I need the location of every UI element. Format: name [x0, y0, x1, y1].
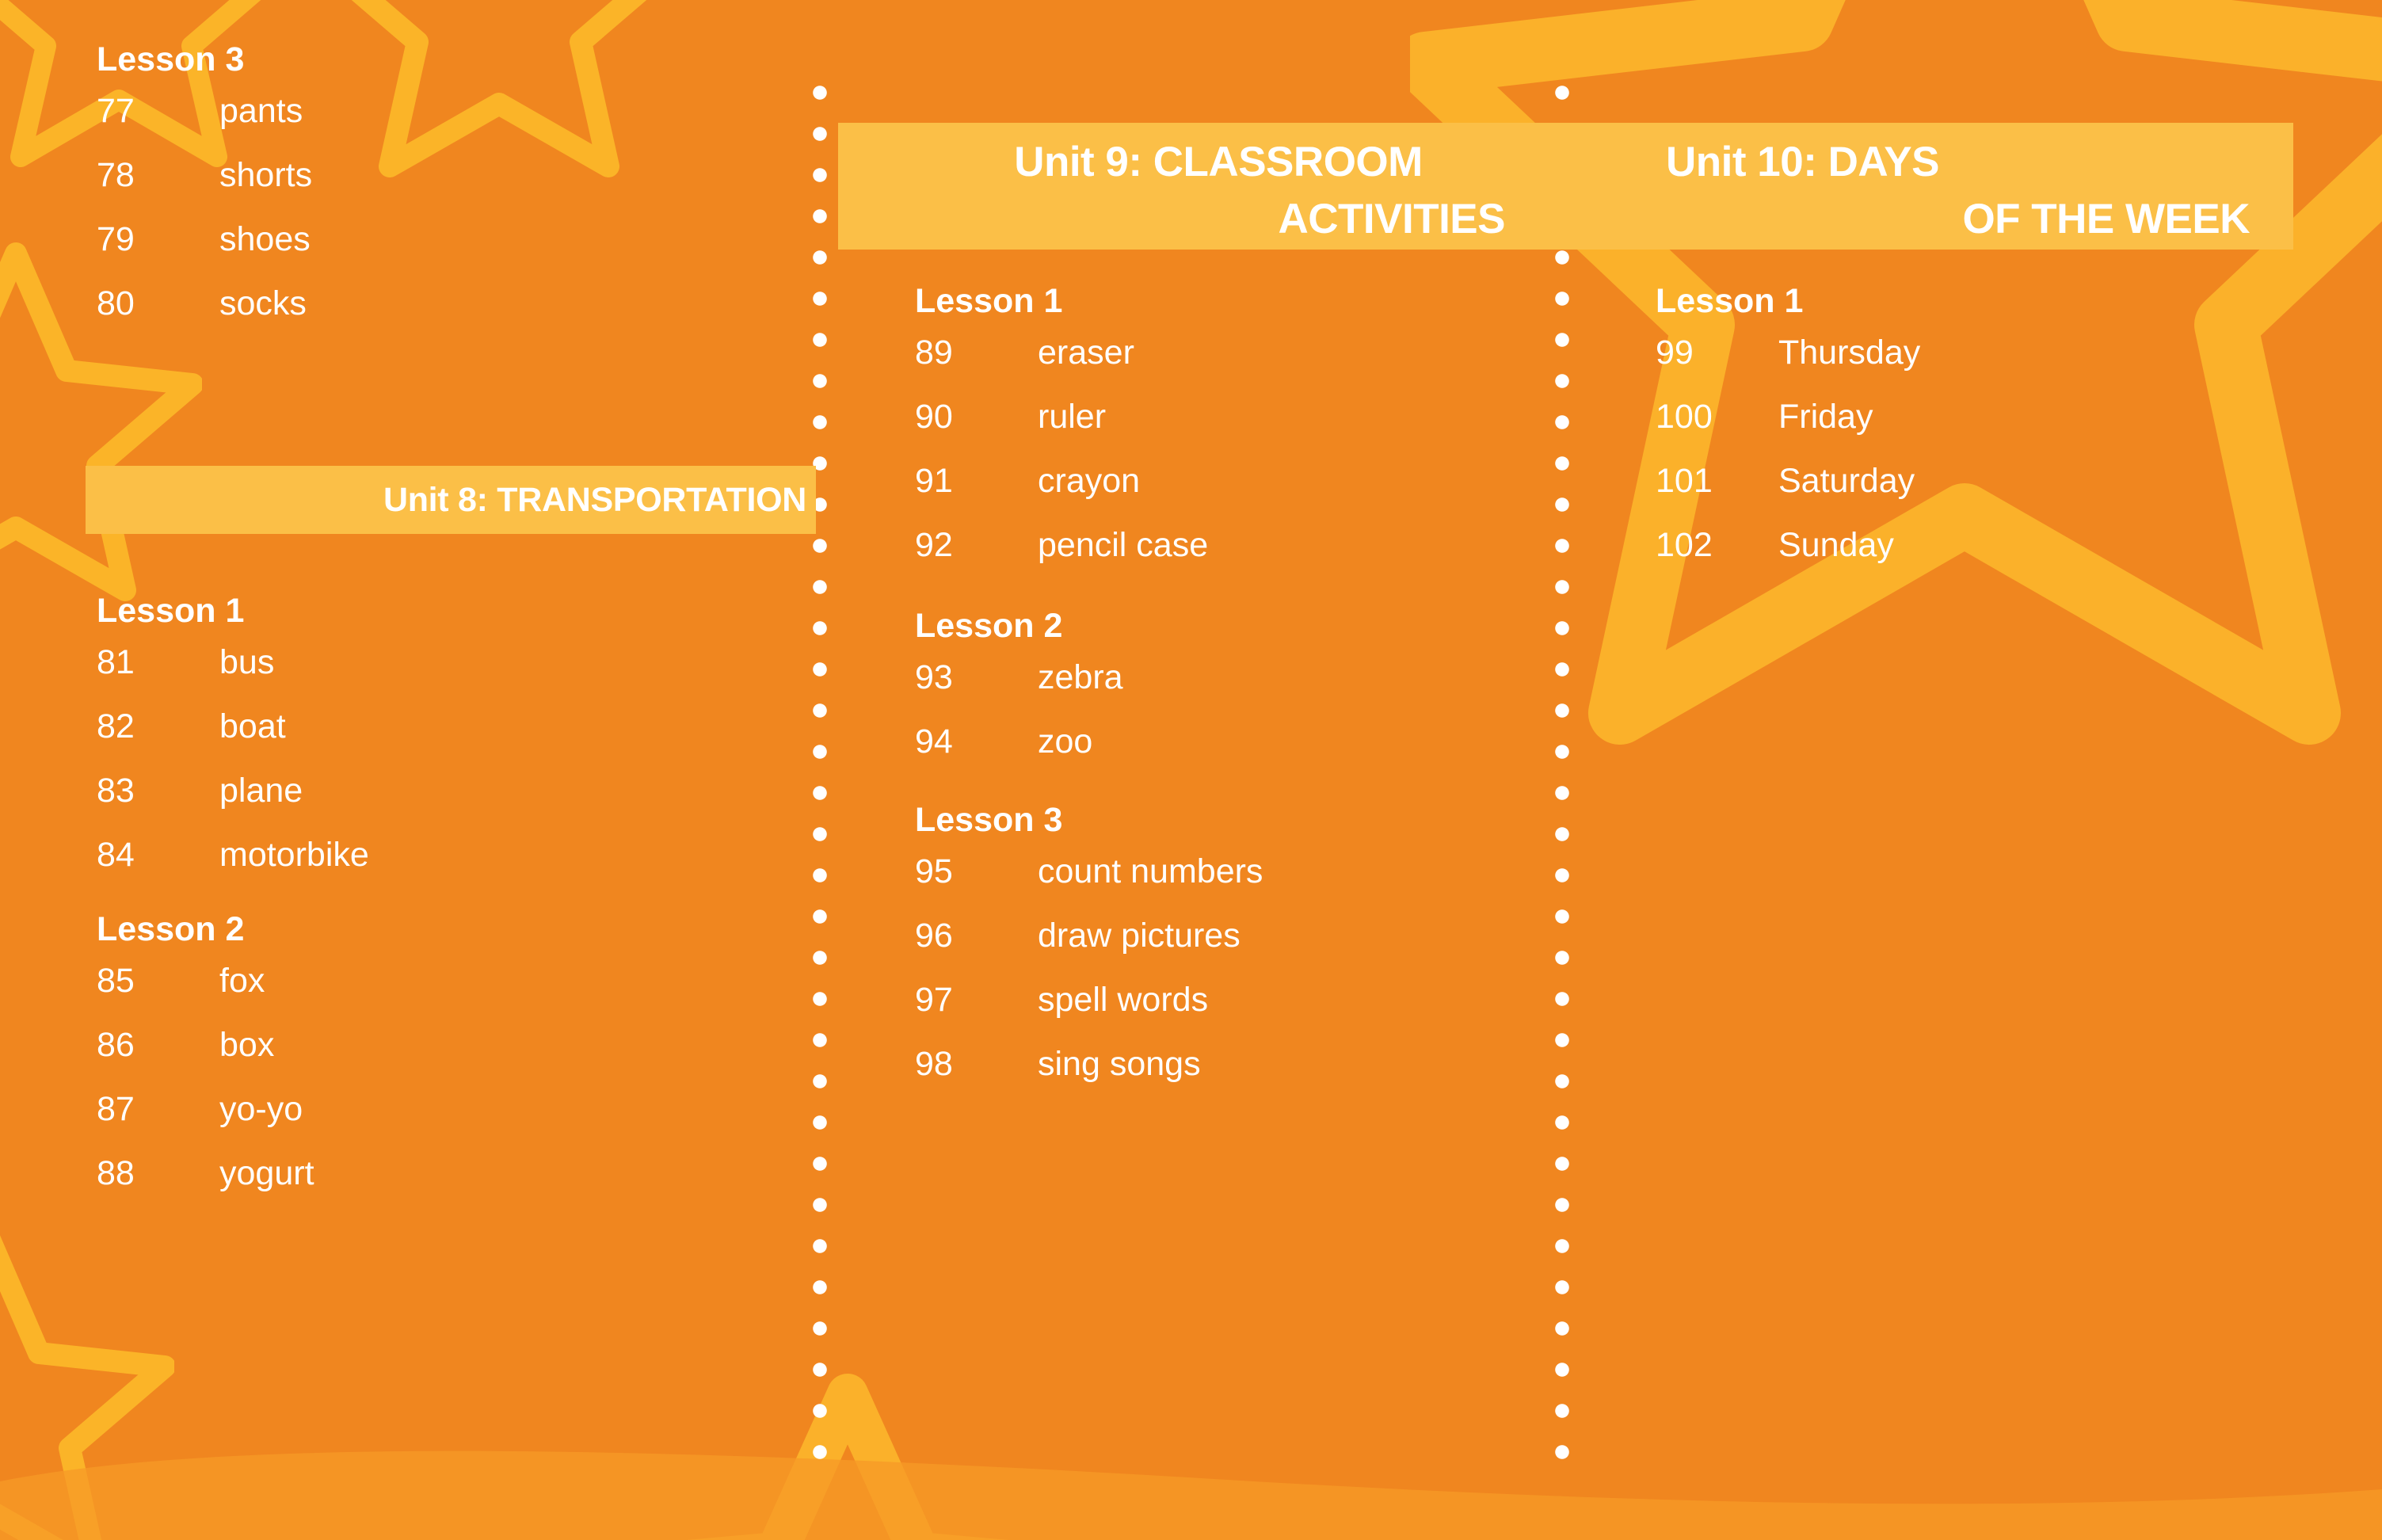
word-number: 97 [915, 968, 1038, 1032]
column-divider-left [806, 79, 833, 1459]
unit-banner-line: Unit 9: CLASSROOM [838, 134, 1599, 191]
word-row: 78 shorts [97, 143, 312, 208]
word-text: spell words [1038, 968, 1208, 1032]
unit-banner-unit8: Unit 8: TRANSPORTATION [86, 466, 816, 534]
word-number: 93 [915, 646, 1038, 710]
word-text: crayon [1038, 449, 1140, 513]
word-row: 79 shoes [97, 208, 312, 272]
word-number: 99 [1656, 321, 1778, 385]
word-text: pants [219, 79, 303, 143]
word-row: 94 zoo [915, 710, 1123, 774]
word-text: draw pictures [1038, 904, 1241, 968]
word-number: 90 [915, 385, 1038, 449]
word-row: 86 box [97, 1013, 314, 1077]
word-number: 89 [915, 321, 1038, 385]
word-number: 86 [97, 1013, 219, 1077]
lesson-block-unit10-lesson1: Lesson 1 99 Thursday 100 Friday 101 Satu… [1656, 281, 1920, 577]
word-row: 92 pencil case [915, 513, 1208, 577]
lesson-title: Lesson 1 [97, 591, 369, 631]
word-row: 96 draw pictures [915, 904, 1263, 968]
unit-banner-line: OF THE WEEK [1580, 191, 2293, 248]
word-text: bus [219, 631, 274, 695]
word-number: 101 [1656, 449, 1778, 513]
word-text: sing songs [1038, 1032, 1201, 1096]
word-text: socks [219, 272, 307, 336]
word-number: 98 [915, 1032, 1038, 1096]
word-row: 87 yo-yo [97, 1077, 314, 1142]
word-number: 100 [1656, 385, 1778, 449]
lesson-title: Lesson 3 [97, 40, 312, 79]
word-text: box [219, 1013, 274, 1077]
word-number: 94 [915, 710, 1038, 774]
word-text: count numbers [1038, 840, 1263, 904]
word-text: pencil case [1038, 513, 1208, 577]
word-number: 84 [97, 823, 219, 887]
word-number: 83 [97, 759, 219, 823]
unit-banner-line: Unit 8: TRANSPORTATION [86, 466, 806, 534]
word-row: 83 plane [97, 759, 369, 823]
word-row: 102 Sunday [1656, 513, 1920, 577]
lesson-block-unit8-lesson2: Lesson 2 85 fox 86 box 87 yo-yo 88 yogur… [97, 909, 314, 1206]
word-row: 95 count numbers [915, 840, 1263, 904]
word-row: 97 spell words [915, 968, 1263, 1032]
word-row: 81 bus [97, 631, 369, 695]
lesson-block-unit7-lesson3: Lesson 3 77 pants 78 shorts 79 shoes 80 … [97, 40, 312, 336]
word-text: shoes [219, 208, 311, 272]
word-text: eraser [1038, 321, 1134, 385]
word-row: 85 fox [97, 949, 314, 1013]
word-text: ruler [1038, 385, 1106, 449]
lesson-block-unit8-lesson1: Lesson 1 81 bus 82 boat 83 plane 84 moto… [97, 591, 369, 887]
lesson-block-unit9-lesson3: Lesson 3 95 count numbers 96 draw pictur… [915, 800, 1263, 1096]
word-text: boat [219, 695, 286, 759]
word-row: 80 socks [97, 272, 312, 336]
column-divider-right [1549, 79, 1576, 1459]
word-text: Sunday [1778, 513, 1894, 577]
word-number: 96 [915, 904, 1038, 968]
lesson-title: Lesson 1 [1656, 281, 1920, 321]
word-row: 93 zebra [915, 646, 1123, 710]
word-number: 95 [915, 840, 1038, 904]
word-row: 84 motorbike [97, 823, 369, 887]
word-row: 100 Friday [1656, 385, 1920, 449]
unit-banner-unit9: Unit 9: CLASSROOM ACTIVITIES [838, 123, 1599, 250]
unit-banner-unit10: Unit 10: DAYS OF THE WEEK [1580, 123, 2293, 250]
word-number: 88 [97, 1142, 219, 1206]
word-text: Thursday [1778, 321, 1920, 385]
lesson-title: Lesson 2 [915, 606, 1123, 646]
word-number: 81 [97, 631, 219, 695]
word-number: 78 [97, 143, 219, 208]
word-number: 79 [97, 208, 219, 272]
lesson-title: Lesson 2 [97, 909, 314, 949]
word-row: 88 yogurt [97, 1142, 314, 1206]
word-row: 82 boat [97, 695, 369, 759]
lesson-block-unit9-lesson1: Lesson 1 89 eraser 90 ruler 91 crayon 92… [915, 281, 1208, 577]
word-row: 77 pants [97, 79, 312, 143]
unit-banner-line: Unit 10: DAYS [1580, 134, 2293, 191]
word-number: 85 [97, 949, 219, 1013]
word-number: 102 [1656, 513, 1778, 577]
lesson-title: Lesson 1 [915, 281, 1208, 321]
word-number: 87 [97, 1077, 219, 1142]
word-text: Friday [1778, 385, 1873, 449]
word-text: motorbike [219, 823, 369, 887]
word-text: zoo [1038, 710, 1092, 774]
word-text: Saturday [1778, 449, 1915, 513]
word-number: 77 [97, 79, 219, 143]
word-number: 82 [97, 695, 219, 759]
unit-banner-line: ACTIVITIES [838, 191, 1599, 248]
word-row: 90 ruler [915, 385, 1208, 449]
lesson-title: Lesson 3 [915, 800, 1263, 840]
word-text: yo-yo [219, 1077, 303, 1142]
word-text: yogurt [219, 1142, 314, 1206]
word-text: fox [219, 949, 265, 1013]
word-text: plane [219, 759, 303, 823]
word-text: zebra [1038, 646, 1123, 710]
wordlist-page: Lesson 3 77 pants 78 shorts 79 shoes 80 … [0, 0, 2382, 1540]
word-row: 101 Saturday [1656, 449, 1920, 513]
word-row: 91 crayon [915, 449, 1208, 513]
word-row: 99 Thursday [1656, 321, 1920, 385]
word-number: 80 [97, 272, 219, 336]
word-row: 98 sing songs [915, 1032, 1263, 1096]
word-number: 91 [915, 449, 1038, 513]
word-text: shorts [219, 143, 312, 208]
word-row: 89 eraser [915, 321, 1208, 385]
word-number: 92 [915, 513, 1038, 577]
lesson-block-unit9-lesson2: Lesson 2 93 zebra 94 zoo [915, 606, 1123, 774]
